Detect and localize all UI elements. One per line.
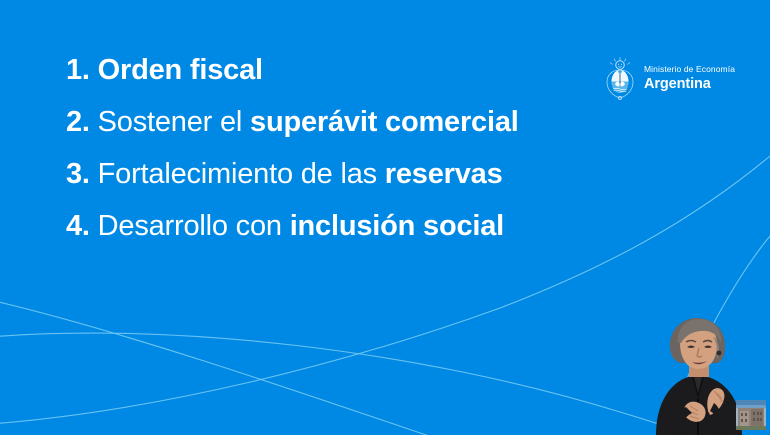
bullet-text-3-light: Fortalecimiento de las <box>90 158 385 190</box>
bullet-text-3-strong: reservas <box>385 158 503 190</box>
ministry-logo: Ministerio de Economía Argentina <box>603 56 735 100</box>
bullet-number-4: 4. <box>66 210 90 242</box>
bullet-number-2: 2. <box>66 106 90 138</box>
argentina-coat-of-arms-icon <box>603 56 637 100</box>
bullet-item-3: 3. Fortalecimiento de las reservas <box>66 148 606 200</box>
logo-ministry-label: Ministerio de Economía <box>644 65 735 74</box>
logo-country-label: Argentina <box>644 77 735 92</box>
bullet-text-1-strong: Orden fiscal <box>90 54 263 86</box>
bullet-text-2-light: Sostener el <box>90 106 250 138</box>
bullet-text-4-light: Desarrollo con <box>90 210 290 242</box>
bullet-text-2-strong: superávit comercial <box>250 106 519 138</box>
bullet-number-1: 1. <box>66 54 90 86</box>
bullet-list: 1. Orden fiscal 2. Sostener el superávit… <box>66 44 606 252</box>
bullet-item-4: 4. Desarrollo con inclusión social <box>66 200 606 252</box>
building-thumbnail-watermark <box>736 400 766 430</box>
bullet-text-4-strong: inclusión social <box>290 210 504 242</box>
bullet-item-1: 1. Orden fiscal <box>66 44 606 96</box>
bullet-number-3: 3. <box>66 158 90 190</box>
logo-text-block: Ministerio de Economía Argentina <box>644 65 735 91</box>
bullet-item-2: 2. Sostener el superávit comercial <box>66 96 606 148</box>
presentation-slide: 1. Orden fiscal 2. Sostener el superávit… <box>0 0 770 435</box>
